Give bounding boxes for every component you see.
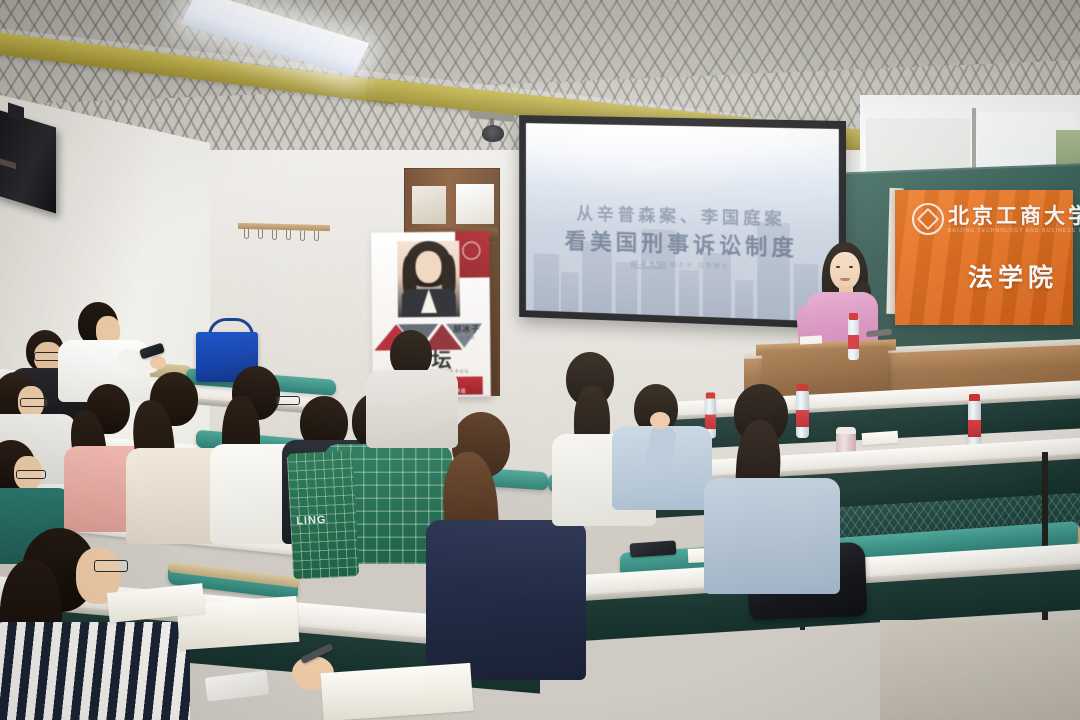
presenter-smile (840, 278, 850, 281)
coat-hook-icon (272, 230, 277, 240)
poster-speaker-role: 主讲人 (460, 336, 477, 342)
presenter-notes (800, 335, 822, 344)
speaker-badge (0, 158, 16, 169)
floor (880, 620, 1080, 720)
slide-subtitle-chip: 主讲人 (631, 260, 667, 269)
security-camera-icon (482, 125, 504, 142)
university-seal-icon (912, 203, 944, 235)
water-bottle (968, 400, 981, 448)
projection-screen: 从辛普森案、李国庭案 看美国刑事诉讼制度 主讲人 胡冰子 法学博士 (526, 123, 839, 322)
plaid-bag-text: LING (296, 514, 327, 528)
wall-speaker-icon (0, 109, 56, 214)
poster-speaker-name: 胡冰子 (453, 323, 480, 334)
lecture-hall-photo: 北京工商大学 BEIJING TECHNOLOGY AND BUSINESS U… (0, 0, 1080, 720)
poster-seal-icon (462, 241, 480, 259)
coat-hook-icon (314, 231, 319, 241)
notebook (321, 663, 474, 720)
water-bottle (796, 390, 809, 438)
coat-hook-icon (244, 229, 249, 239)
coat-hook-icon (300, 231, 305, 241)
coat-hook-icon (286, 230, 291, 240)
smartphone[interactable] (205, 670, 269, 701)
tissue (862, 431, 899, 445)
green-plaid-bag[interactable]: LING (287, 450, 360, 579)
door-window-pane (456, 184, 494, 224)
speaker-portrait (397, 241, 460, 318)
presenter-face (830, 252, 860, 290)
banner-university-name-en: BEIJING TECHNOLOGY AND BUSINESS UNIVERSI… (948, 228, 1080, 234)
banner-university-name: 北京工商大学 (948, 200, 1080, 230)
projector-glare (526, 123, 839, 200)
coat-hook-icon (258, 229, 263, 239)
thermos-cap (836, 427, 856, 434)
banner-department-name: 法学院 (968, 258, 1058, 294)
door-window-pane (412, 186, 446, 224)
